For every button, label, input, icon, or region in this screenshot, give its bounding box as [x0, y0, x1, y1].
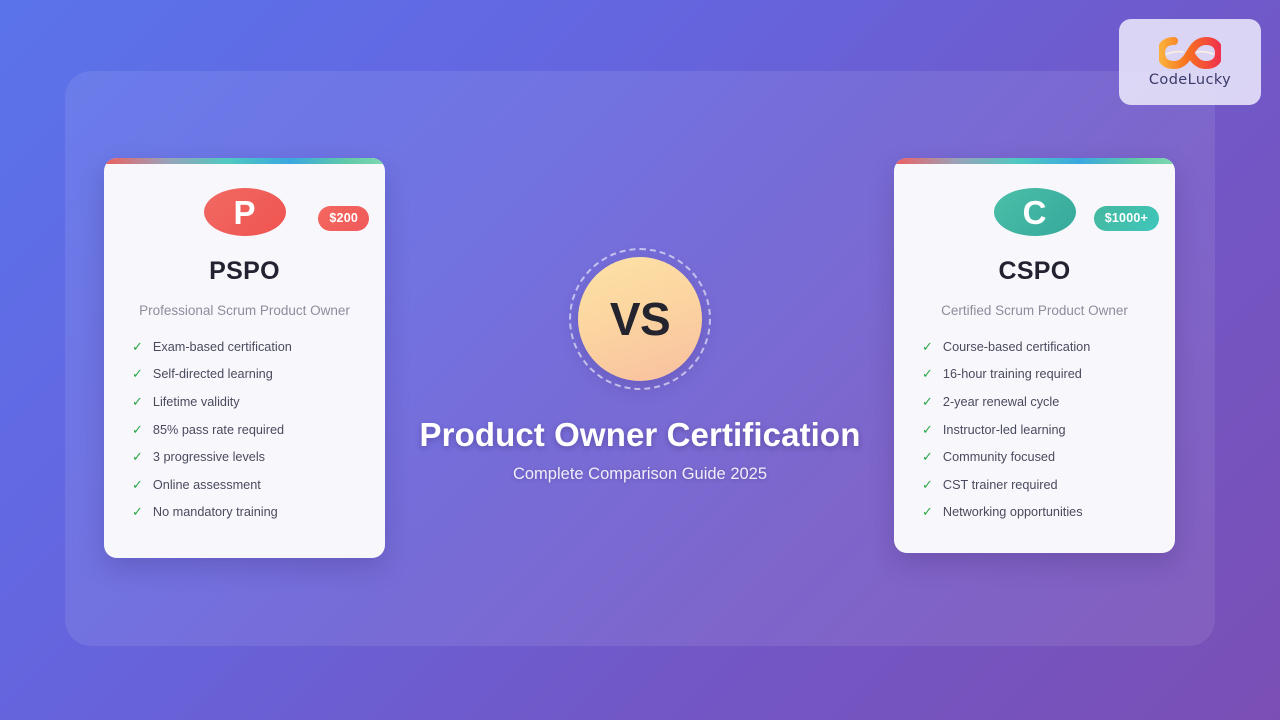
- check-icon: ✓: [132, 340, 143, 354]
- list-item: ✓ 3 progressive levels: [132, 450, 357, 465]
- feature-list: ✓ Course-based certification ✓ 16-hour t…: [916, 340, 1153, 520]
- brand-badge[interactable]: CodeLucky: [1119, 19, 1261, 105]
- infinity-loop-icon: [1159, 36, 1221, 70]
- price-badge: $200: [318, 206, 369, 231]
- certification-code: PSPO: [126, 257, 363, 286]
- feature-label: 3 progressive levels: [153, 450, 265, 465]
- feature-label: CST trainer required: [943, 478, 1058, 493]
- list-item: ✓ Exam-based certification: [132, 340, 357, 355]
- feature-label: 2-year renewal cycle: [943, 395, 1059, 410]
- check-icon: ✓: [922, 505, 933, 519]
- feature-label: 16-hour training required: [943, 367, 1082, 382]
- feature-label: Self-directed learning: [153, 367, 273, 382]
- check-icon: ✓: [922, 423, 933, 437]
- list-item: ✓ CST trainer required: [922, 478, 1147, 493]
- feature-list: ✓ Exam-based certification ✓ Self-direct…: [126, 340, 363, 520]
- list-item: ✓ Community focused: [922, 450, 1147, 465]
- feature-label: Course-based certification: [943, 340, 1090, 355]
- feature-label: 85% pass rate required: [153, 423, 284, 438]
- card-accent-bar: [104, 158, 385, 164]
- feature-label: Online assessment: [153, 478, 261, 493]
- card-body: $200 P PSPO Professional Scrum Product O…: [104, 188, 385, 520]
- price-badge: $1000+: [1094, 206, 1159, 231]
- check-icon: ✓: [922, 478, 933, 492]
- versus-emblem: VS: [569, 248, 711, 390]
- list-item: ✓ Self-directed learning: [132, 367, 357, 382]
- list-item: ✓ 85% pass rate required: [132, 423, 357, 438]
- certification-card-pspo[interactable]: $200 P PSPO Professional Scrum Product O…: [104, 158, 385, 558]
- list-item: ✓ Lifetime validity: [132, 395, 357, 410]
- list-item: ✓ Instructor-led learning: [922, 423, 1147, 438]
- check-icon: ✓: [132, 505, 143, 519]
- check-icon: ✓: [132, 478, 143, 492]
- card-accent-bar: [894, 158, 1175, 164]
- card-body: $1000+ C CSPO Certified Scrum Product Ow…: [894, 188, 1175, 520]
- feature-label: Instructor-led learning: [943, 423, 1066, 438]
- check-icon: ✓: [922, 367, 933, 381]
- list-item: ✓ Online assessment: [132, 478, 357, 493]
- list-item: ✓ Networking opportunities: [922, 505, 1147, 520]
- certification-full-name: Professional Scrum Product Owner: [126, 302, 363, 320]
- feature-label: Lifetime validity: [153, 395, 240, 410]
- list-item: ✓ No mandatory training: [132, 505, 357, 520]
- center-column: VS Product Owner Certification Complete …: [390, 248, 890, 484]
- check-icon: ✓: [132, 367, 143, 381]
- check-icon: ✓: [922, 450, 933, 464]
- feature-label: Community focused: [943, 450, 1055, 465]
- certification-card-cspo[interactable]: $1000+ C CSPO Certified Scrum Product Ow…: [894, 158, 1175, 553]
- list-item: ✓ 2-year renewal cycle: [922, 395, 1147, 410]
- check-icon: ✓: [132, 450, 143, 464]
- dashed-ring: [569, 248, 711, 390]
- certification-emblem: P: [204, 188, 286, 236]
- list-item: ✓ Course-based certification: [922, 340, 1147, 355]
- brand-name: CodeLucky: [1149, 72, 1231, 88]
- feature-label: Exam-based certification: [153, 340, 292, 355]
- page-title: Product Owner Certification: [420, 416, 861, 454]
- check-icon: ✓: [132, 423, 143, 437]
- page-subtitle: Complete Comparison Guide 2025: [513, 465, 767, 484]
- list-item: ✓ 16-hour training required: [922, 367, 1147, 382]
- certification-emblem: C: [994, 188, 1076, 236]
- check-icon: ✓: [132, 395, 143, 409]
- check-icon: ✓: [922, 340, 933, 354]
- certification-full-name: Certified Scrum Product Owner: [916, 302, 1153, 320]
- certification-code: CSPO: [916, 257, 1153, 286]
- infographic-canvas: CodeLucky $200 P PSPO Professional Scrum…: [0, 0, 1280, 720]
- feature-label: No mandatory training: [153, 505, 278, 520]
- check-icon: ✓: [922, 395, 933, 409]
- feature-label: Networking opportunities: [943, 505, 1083, 520]
